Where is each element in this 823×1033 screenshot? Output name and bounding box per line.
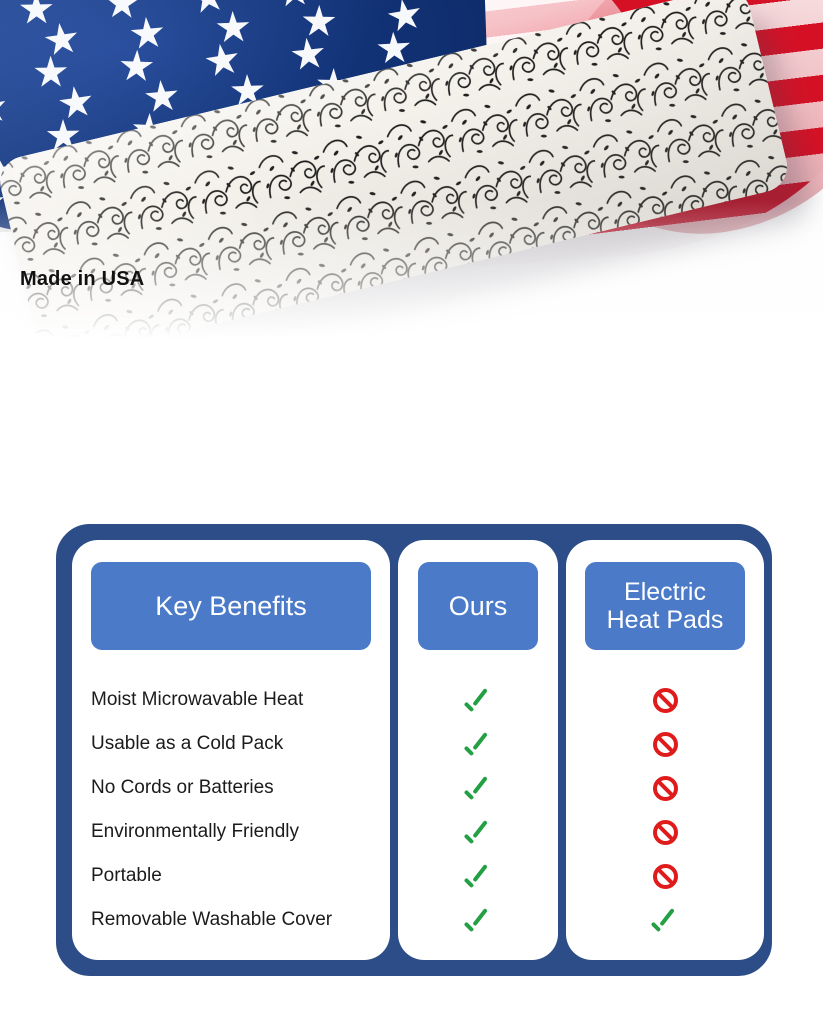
product-photo: Made in USA [0, 0, 823, 520]
benefit-row: No Cords or Batteries [72, 766, 390, 810]
prohibited-icon [653, 864, 678, 889]
check-icon [465, 867, 491, 885]
benefit-row: Moist Microwavable Heat [72, 678, 390, 722]
electric-header-line2: Heat Pads [607, 606, 724, 634]
prohibited-icon [653, 820, 678, 845]
check-icon [465, 911, 491, 929]
electric-cell [566, 854, 764, 898]
electric-row-list [566, 678, 764, 942]
electric-cell [566, 722, 764, 766]
benefits-row-list: Moist Microwavable HeatUsable as a Cold … [72, 678, 390, 942]
made-in-usa-label: Made in USA [20, 268, 144, 291]
electric-column-header: Electric Heat Pads [585, 562, 745, 650]
benefit-label: Removable Washable Cover [91, 909, 332, 931]
benefits-column: Key Benefits Moist Microwavable HeatUsab… [72, 540, 390, 960]
electric-header-line1: Electric [624, 578, 706, 606]
benefit-label: Environmentally Friendly [91, 821, 299, 843]
check-icon [652, 911, 678, 929]
ours-cell [398, 810, 558, 854]
electric-cell [566, 766, 764, 810]
ours-cell [398, 854, 558, 898]
prohibited-icon [653, 776, 678, 801]
electric-cell [566, 898, 764, 942]
ours-column-header: Ours [418, 562, 538, 650]
comparison-table: Key Benefits Moist Microwavable HeatUsab… [56, 524, 772, 976]
check-icon [465, 779, 491, 797]
electric-heat-pads-column: Electric Heat Pads [566, 540, 764, 960]
benefit-label: Moist Microwavable Heat [91, 689, 303, 711]
check-icon [465, 735, 491, 753]
ours-cell [398, 766, 558, 810]
benefit-label: Portable [91, 865, 162, 887]
check-icon [465, 823, 491, 841]
benefit-label: No Cords or Batteries [91, 777, 274, 799]
benefit-label: Usable as a Cold Pack [91, 733, 283, 755]
ours-column: Ours [398, 540, 558, 960]
benefits-column-header: Key Benefits [91, 562, 371, 650]
ours-cell [398, 898, 558, 942]
electric-cell [566, 810, 764, 854]
product-marketing-image: Made in USA Key Benefits Moist Microwava… [0, 0, 823, 1033]
benefit-row: Portable [72, 854, 390, 898]
ours-cell [398, 678, 558, 722]
check-icon [465, 691, 491, 709]
ours-row-list [398, 678, 558, 942]
prohibited-icon [653, 688, 678, 713]
prohibited-icon [653, 732, 678, 757]
electric-cell [566, 678, 764, 722]
benefit-row: Removable Washable Cover [72, 898, 390, 942]
benefit-row: Usable as a Cold Pack [72, 722, 390, 766]
benefit-row: Environmentally Friendly [72, 810, 390, 854]
ours-cell [398, 722, 558, 766]
photo-fade [0, 200, 823, 520]
